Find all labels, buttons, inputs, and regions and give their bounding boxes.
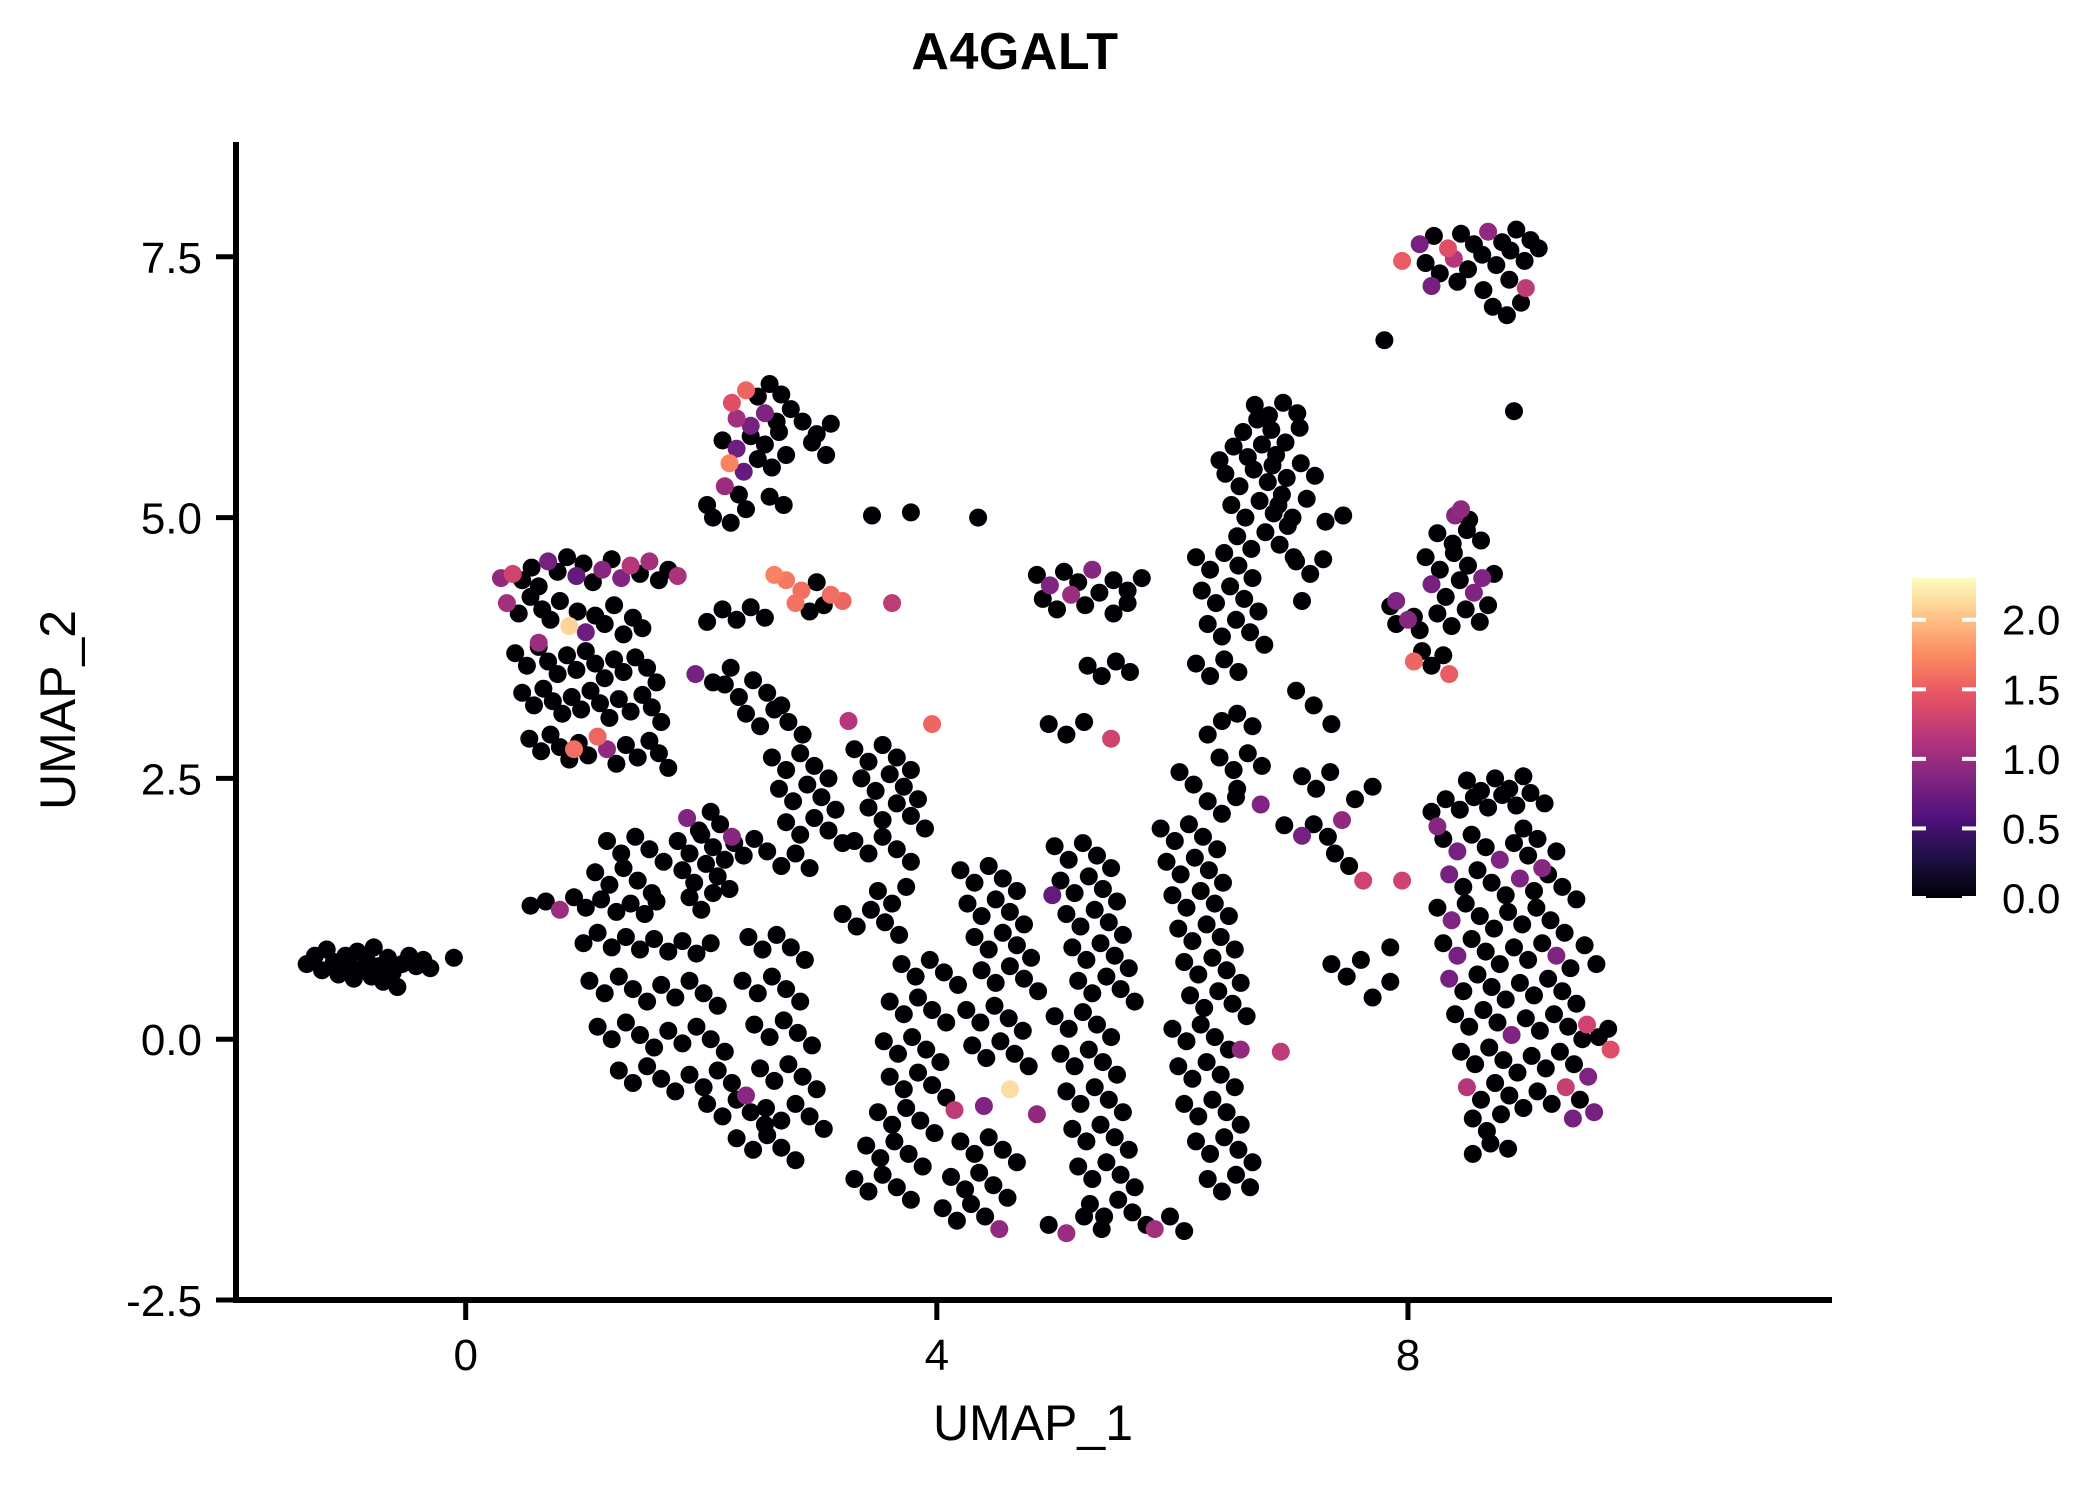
scatter-point xyxy=(916,820,934,838)
scatter-point xyxy=(1200,861,1218,879)
scatter-point xyxy=(1216,465,1234,483)
scatter-point xyxy=(1201,667,1219,685)
scatter-point xyxy=(1514,1099,1532,1117)
scatter-point xyxy=(1187,548,1205,566)
scatter-point xyxy=(1046,837,1064,855)
scatter-point xyxy=(1088,1016,1106,1034)
scatter-point xyxy=(617,928,635,946)
scatter-point xyxy=(888,749,906,767)
scatter-point xyxy=(1587,955,1605,973)
scatter-point xyxy=(1040,715,1058,733)
scatter-point xyxy=(1523,1047,1541,1065)
scatter-point xyxy=(787,1095,805,1113)
scatter-point xyxy=(1494,1051,1512,1069)
scatter-point xyxy=(1326,845,1344,863)
scatter-point xyxy=(1463,930,1481,948)
scatter-point xyxy=(787,845,805,863)
scatter-point xyxy=(817,446,835,464)
scatter-point xyxy=(1086,901,1104,919)
scatter-point xyxy=(874,811,892,829)
scatter-point xyxy=(549,665,567,683)
scatter-point xyxy=(1229,1141,1247,1159)
scatter-point xyxy=(1060,851,1078,869)
color-legend[interactable]: 2.01.51.00.50.0 xyxy=(1912,578,2060,922)
scatter-point xyxy=(1452,1043,1470,1061)
scatter-point xyxy=(1120,959,1138,977)
scatter-point xyxy=(921,951,939,969)
scatter-point xyxy=(782,938,800,956)
scatter-point xyxy=(1381,938,1399,956)
scatter-point xyxy=(1126,1178,1144,1196)
scatter-point xyxy=(1306,467,1324,485)
scatter-point xyxy=(1100,1091,1118,1109)
scatter-point xyxy=(1028,1105,1046,1123)
scatter-point xyxy=(796,951,814,969)
scatter-point xyxy=(551,901,569,919)
scatter-point xyxy=(976,1208,994,1226)
scatter-point xyxy=(1477,943,1495,961)
scatter-point xyxy=(624,980,642,998)
scatter-point xyxy=(852,769,870,787)
scatter-point xyxy=(777,446,795,464)
scatter-point xyxy=(923,1001,941,1019)
scatter-point xyxy=(863,507,881,525)
scatter-point xyxy=(1015,915,1033,933)
scatter-point xyxy=(1529,830,1547,848)
scatter-point xyxy=(758,842,776,860)
scatter-point xyxy=(659,759,677,777)
scatter-point xyxy=(1499,903,1517,921)
scatter-point xyxy=(1458,1078,1476,1096)
scatter-point xyxy=(1321,763,1339,781)
scatter-point xyxy=(596,669,614,687)
scatter-point xyxy=(1029,982,1047,1000)
scatter-point xyxy=(1060,1020,1078,1038)
colorbar-tick-label: 2.0 xyxy=(2002,597,2060,644)
scatter-point xyxy=(902,853,920,871)
scatter-point xyxy=(1020,1057,1038,1075)
scatter-point xyxy=(1014,1022,1032,1040)
scatter-point xyxy=(1232,1041,1250,1059)
scatter-point xyxy=(1454,982,1472,1000)
scatter-point xyxy=(1428,605,1446,623)
scatter-point xyxy=(1393,252,1411,270)
scatter-point xyxy=(1474,281,1492,299)
scatter-point xyxy=(1479,799,1497,817)
scatter-point xyxy=(1322,715,1340,733)
scatter-point xyxy=(1199,1170,1217,1188)
scatter-point xyxy=(1272,1043,1290,1061)
scatter-point xyxy=(1485,920,1503,938)
scatter-point xyxy=(596,984,614,1002)
scatter-point xyxy=(768,926,786,944)
scatter-point xyxy=(1212,928,1230,946)
scatter-point xyxy=(973,907,991,925)
scatter-point xyxy=(1225,761,1243,779)
scatter-point xyxy=(1201,1145,1219,1163)
scatter-point xyxy=(1251,492,1269,510)
scatter-point xyxy=(445,949,463,967)
scatter-point xyxy=(1472,532,1490,550)
scatter-point xyxy=(1448,273,1466,291)
scatter-point xyxy=(808,1080,826,1098)
scatter-point xyxy=(959,895,977,913)
scatter-point xyxy=(1305,696,1323,714)
scatter-point xyxy=(1519,847,1537,865)
scatter-point xyxy=(721,880,739,898)
scatter-point xyxy=(589,728,607,746)
scatter-point xyxy=(1015,970,1033,988)
scatter-point xyxy=(1057,726,1075,744)
scatter-point xyxy=(772,1139,790,1157)
scatter-point xyxy=(598,832,616,850)
scatter-point xyxy=(1375,331,1393,349)
scatter-point xyxy=(999,1189,1017,1207)
scatter-point xyxy=(600,709,618,727)
scatter-point xyxy=(911,1112,929,1130)
scatter-point xyxy=(1224,995,1242,1013)
scatter-point xyxy=(1516,252,1534,270)
scatter-point xyxy=(1517,279,1535,297)
scatter-point xyxy=(1001,1080,1019,1098)
scatter-point xyxy=(1212,1066,1230,1084)
scatter-point xyxy=(926,1124,944,1142)
scatter-point xyxy=(1252,796,1270,814)
scatter-point xyxy=(895,1080,913,1098)
scatter-point xyxy=(659,1022,677,1040)
scatter-point xyxy=(593,561,611,579)
scatter-point xyxy=(845,832,863,850)
scatter-point xyxy=(1074,834,1092,852)
scatter-point xyxy=(1102,1028,1120,1046)
scatter-point xyxy=(1253,757,1271,775)
scatter-point xyxy=(1497,991,1515,1009)
scatter-point xyxy=(754,941,772,959)
scatter-point xyxy=(827,801,845,819)
scatter-point xyxy=(1238,1007,1256,1025)
scatter-point xyxy=(1556,924,1574,942)
x-axis-ticks: 048 xyxy=(453,1300,1420,1380)
scatter-point xyxy=(1069,1158,1087,1176)
scatter-point xyxy=(801,1107,819,1125)
scatter-point xyxy=(869,882,887,900)
scatter-point xyxy=(758,1126,776,1144)
scatter-point xyxy=(530,634,548,652)
scatter-point xyxy=(730,688,748,706)
scatter-point xyxy=(883,1116,901,1134)
scatter-point xyxy=(1602,1041,1620,1059)
scatter-point xyxy=(949,976,967,994)
scatter-point xyxy=(803,434,821,452)
scatter-point xyxy=(1531,1022,1549,1040)
scatter-point xyxy=(560,617,578,635)
scatter-point xyxy=(1352,951,1370,969)
scatter-point xyxy=(1471,907,1489,925)
scatter-point xyxy=(589,1018,607,1036)
scatter-point xyxy=(902,761,920,779)
scatter-point xyxy=(1075,713,1093,731)
scatter-point xyxy=(716,477,734,495)
scatter-point xyxy=(957,1001,975,1019)
scatter-point xyxy=(1278,469,1296,487)
scatter-point xyxy=(1499,1140,1517,1158)
scatter-point xyxy=(1198,1053,1216,1071)
scatter-point xyxy=(1077,951,1095,969)
scatter-point xyxy=(1119,594,1137,612)
scatter-point xyxy=(1423,277,1441,295)
scatter-point xyxy=(1440,970,1458,988)
scatter-point xyxy=(1511,870,1529,888)
scatter-point xyxy=(794,413,812,431)
scatter-point xyxy=(709,997,727,1015)
scatter-point xyxy=(860,799,878,817)
scatter-point xyxy=(1364,778,1382,796)
scatter-point xyxy=(888,794,906,812)
scatter-point xyxy=(973,961,991,979)
scatter-point xyxy=(1102,730,1120,748)
scatter-point xyxy=(765,1072,783,1090)
scatter-point xyxy=(812,788,830,806)
scatter-point xyxy=(577,899,595,917)
scatter-point xyxy=(805,757,823,775)
scatter-point xyxy=(1500,271,1518,289)
scatter-point xyxy=(744,671,762,689)
scatter-point xyxy=(617,1014,635,1032)
scatter-point xyxy=(1255,636,1273,654)
scatter-point xyxy=(735,847,753,865)
scatter-point xyxy=(745,1016,763,1034)
scatter-point xyxy=(822,586,840,604)
scatter-point xyxy=(1189,1107,1207,1125)
scatter-point xyxy=(1466,1055,1484,1073)
scatter-point xyxy=(1472,1091,1490,1109)
scatter-point xyxy=(1090,584,1108,602)
scatter-point xyxy=(1288,404,1306,422)
scatter-point xyxy=(596,615,614,633)
scatter-point xyxy=(1244,717,1262,735)
scatter-point xyxy=(1507,797,1525,815)
scatter-point xyxy=(629,872,647,890)
scatter-point xyxy=(1094,1053,1112,1071)
scatter-point xyxy=(603,1030,621,1048)
scatter-point xyxy=(1112,1166,1130,1184)
scatter-point xyxy=(631,1026,649,1044)
scatter-point xyxy=(1525,882,1543,900)
scatter-point xyxy=(763,749,781,767)
scatter-point xyxy=(1213,1183,1231,1201)
scatter-point xyxy=(787,1151,805,1169)
scatter-point xyxy=(1557,1078,1575,1096)
scatter-point xyxy=(761,1028,779,1046)
scatter-point xyxy=(709,1062,727,1080)
scatter-point xyxy=(1108,1066,1126,1084)
scatter-point xyxy=(1405,653,1423,671)
scatter-point xyxy=(1166,832,1184,850)
scatter-point xyxy=(1043,886,1061,904)
scatter-point xyxy=(1183,932,1201,950)
y-axis-ticks: -2.50.02.55.07.5 xyxy=(126,234,236,1326)
scatter-point xyxy=(903,1028,921,1046)
scatter-point xyxy=(1533,934,1551,952)
scatter-point xyxy=(1100,913,1118,931)
scatter-point xyxy=(765,566,783,584)
scatter-point xyxy=(1486,1074,1504,1092)
scatter-point xyxy=(622,557,640,575)
scatter-point xyxy=(808,573,826,591)
scatter-point xyxy=(1527,899,1545,917)
scatter-point xyxy=(881,993,899,1011)
scatter-point xyxy=(1063,938,1081,956)
scatter-point xyxy=(1215,1128,1233,1146)
scatter-point xyxy=(1451,571,1469,589)
scatter-point xyxy=(923,1076,941,1094)
scatter-point xyxy=(539,552,557,570)
scatter-point xyxy=(874,1166,892,1184)
scatter-point xyxy=(1063,1120,1081,1138)
scatter-point xyxy=(897,878,915,896)
scatter-point xyxy=(1284,509,1302,527)
y-axis-title: UMAP_2 xyxy=(30,610,86,810)
scatter-point xyxy=(1293,767,1311,785)
scatter-point xyxy=(756,609,774,627)
scatter-point xyxy=(1133,569,1151,587)
scatter-point xyxy=(869,1103,887,1121)
scatter-point xyxy=(1228,527,1246,545)
scatter-point xyxy=(580,972,598,990)
scatter-point xyxy=(1469,861,1487,879)
scatter-point xyxy=(857,1137,875,1155)
scatter-point xyxy=(980,1128,998,1146)
scatter-point xyxy=(1559,1018,1577,1036)
scatter-point xyxy=(666,1082,684,1100)
scatter-point xyxy=(1083,561,1101,579)
scatter-point xyxy=(737,381,755,399)
scatter-point xyxy=(1186,849,1204,867)
scatter-point xyxy=(504,565,522,583)
scatter-point xyxy=(1126,993,1144,1011)
scatter-point xyxy=(1206,895,1224,913)
scatter-point xyxy=(1543,1095,1561,1113)
scatter-point xyxy=(678,809,696,827)
scatter-point xyxy=(775,1011,793,1029)
scatter-point xyxy=(669,567,687,585)
scatter-point xyxy=(421,959,439,977)
x-axis-title: UMAP_1 xyxy=(933,1395,1133,1451)
scatter-point xyxy=(1451,801,1469,819)
scatter-point xyxy=(777,813,795,831)
scatter-point xyxy=(889,1045,907,1063)
scatter-point xyxy=(1008,1153,1026,1171)
scatter-point xyxy=(645,1039,663,1057)
scatter-point xyxy=(558,548,576,566)
scatter-point xyxy=(577,623,595,641)
scatter-point xyxy=(1209,982,1227,1000)
scatter-point xyxy=(871,1149,889,1167)
scatter-point xyxy=(946,1101,964,1119)
scatter-point xyxy=(640,552,658,570)
scatter-point xyxy=(1239,744,1257,762)
scatter-point xyxy=(681,1066,699,1084)
scatter-point xyxy=(934,1199,952,1217)
scatter-point xyxy=(1509,1064,1527,1082)
scatter-point xyxy=(1443,617,1461,635)
scatter-point xyxy=(1513,915,1531,933)
scatter-point xyxy=(1301,565,1319,583)
scatter-point xyxy=(787,594,805,612)
scatter-point xyxy=(1477,838,1495,856)
scatter-point xyxy=(815,1120,833,1138)
scatter-point xyxy=(902,1191,920,1209)
scatter-point xyxy=(695,1078,713,1096)
scatter-point xyxy=(1542,911,1560,929)
scatter-point xyxy=(1123,1203,1141,1221)
scatter-point xyxy=(770,423,788,441)
scatter-point xyxy=(1228,705,1246,723)
colorbar-tick-label: 0.0 xyxy=(2002,875,2060,922)
scatter-point xyxy=(1275,816,1293,834)
scatter-point xyxy=(553,705,571,723)
scatter-point xyxy=(801,859,819,877)
scatter-point xyxy=(1206,1028,1224,1046)
scatter-point xyxy=(951,1132,969,1150)
scatter-point xyxy=(1579,1068,1597,1086)
scatter-point xyxy=(1244,569,1262,587)
scatter-point xyxy=(772,1112,790,1130)
scatter-point xyxy=(1448,947,1466,965)
scatter-point xyxy=(970,1164,988,1182)
scatter-point xyxy=(1181,986,1199,1004)
scatter-point xyxy=(987,974,1005,992)
scatter-point xyxy=(1241,1178,1259,1196)
scatter-point xyxy=(1214,874,1232,892)
scatter-point xyxy=(888,1178,906,1196)
scatter-point xyxy=(1057,1082,1075,1100)
scatter-point xyxy=(1428,817,1446,835)
scatter-point xyxy=(1221,577,1239,595)
scatter-point xyxy=(1333,811,1351,829)
scatter-point xyxy=(975,1097,993,1115)
scatter-point xyxy=(624,1074,642,1092)
scatter-point xyxy=(645,930,663,948)
scatter-point xyxy=(633,619,651,637)
scatter-point xyxy=(1235,590,1253,608)
scatter-point xyxy=(770,780,788,798)
scatter-point xyxy=(1203,1091,1221,1109)
scatter-point xyxy=(723,394,741,412)
scatter-point xyxy=(1215,544,1233,562)
scatter-point xyxy=(1227,611,1245,629)
scatter-point xyxy=(695,984,713,1002)
scatter-point xyxy=(875,1032,893,1050)
scatter-point xyxy=(1578,1016,1596,1034)
scatter-point xyxy=(1183,1070,1201,1088)
scatter-point xyxy=(622,703,640,721)
scatter-point xyxy=(1080,1041,1098,1059)
scatter-point xyxy=(935,963,953,981)
scatter-point xyxy=(1226,1078,1244,1096)
scatter-point xyxy=(698,613,716,631)
scatter-point xyxy=(834,905,852,923)
umap-scatter-plot: -2.50.02.55.07.5 048 UMAP_2 UMAP_1 2.01.… xyxy=(0,0,2100,1500)
scatter-point xyxy=(1083,984,1101,1002)
scatter-point xyxy=(1006,1045,1024,1063)
scatter-point xyxy=(1259,473,1277,491)
scatter-point xyxy=(739,928,757,946)
scatter-point xyxy=(1547,842,1565,860)
scatter-point xyxy=(900,1145,918,1163)
scatter-point xyxy=(567,567,585,585)
scatter-point xyxy=(881,765,899,783)
